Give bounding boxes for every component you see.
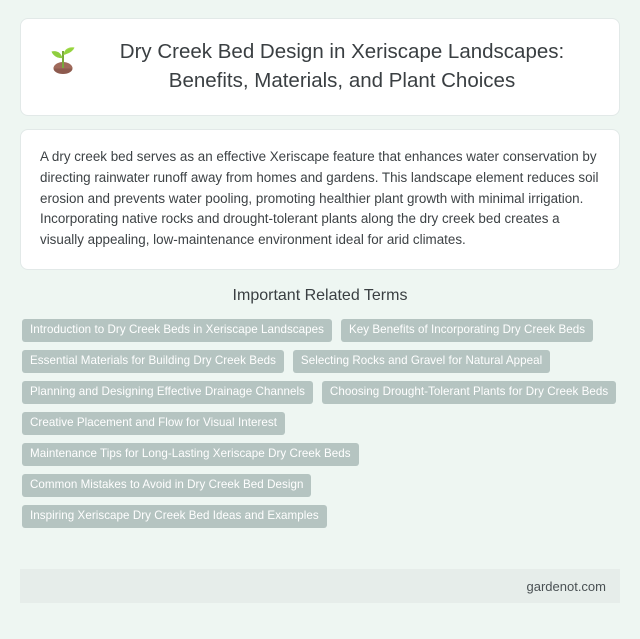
site-domain: gardenot.com (527, 579, 607, 594)
related-term-tag[interactable]: Choosing Drought-Tolerant Plants for Dry… (322, 381, 616, 404)
related-terms-heading: Important Related Terms (20, 287, 620, 305)
related-terms-list: Introduction to Dry Creek Beds in Xerisc… (20, 319, 620, 528)
related-term-tag[interactable]: Planning and Designing Effective Drainag… (22, 381, 313, 404)
page-root: Dry Creek Bed Design in Xeriscape Landsc… (0, 0, 640, 639)
description-text: A dry creek bed serves as an effective X… (40, 147, 600, 251)
related-term-tag[interactable]: Key Benefits of Incorporating Dry Creek … (341, 319, 593, 342)
related-term-tag[interactable]: Essential Materials for Building Dry Cre… (22, 350, 284, 373)
related-term-tag[interactable]: Selecting Rocks and Gravel for Natural A… (293, 350, 550, 373)
seedling-icon (48, 41, 78, 75)
related-term-tag[interactable]: Inspiring Xeriscape Dry Creek Bed Ideas … (22, 505, 327, 528)
footer-spacer (20, 528, 620, 569)
related-term-tag[interactable]: Introduction to Dry Creek Beds in Xerisc… (22, 319, 332, 342)
description-card: A dry creek bed serves as an effective X… (20, 129, 620, 270)
title-card: Dry Creek Bed Design in Xeriscape Landsc… (20, 18, 620, 116)
page-title: Dry Creek Bed Design in Xeriscape Landsc… (92, 37, 592, 95)
related-term-tag[interactable]: Common Mistakes to Avoid in Dry Creek Be… (22, 474, 311, 497)
related-term-tag[interactable]: Maintenance Tips for Long-Lasting Xerisc… (22, 443, 359, 466)
footer-bar: gardenot.com (20, 569, 620, 603)
related-term-tag[interactable]: Creative Placement and Flow for Visual I… (22, 412, 285, 435)
related-terms-section: Important Related Terms Introduction to … (20, 287, 620, 528)
